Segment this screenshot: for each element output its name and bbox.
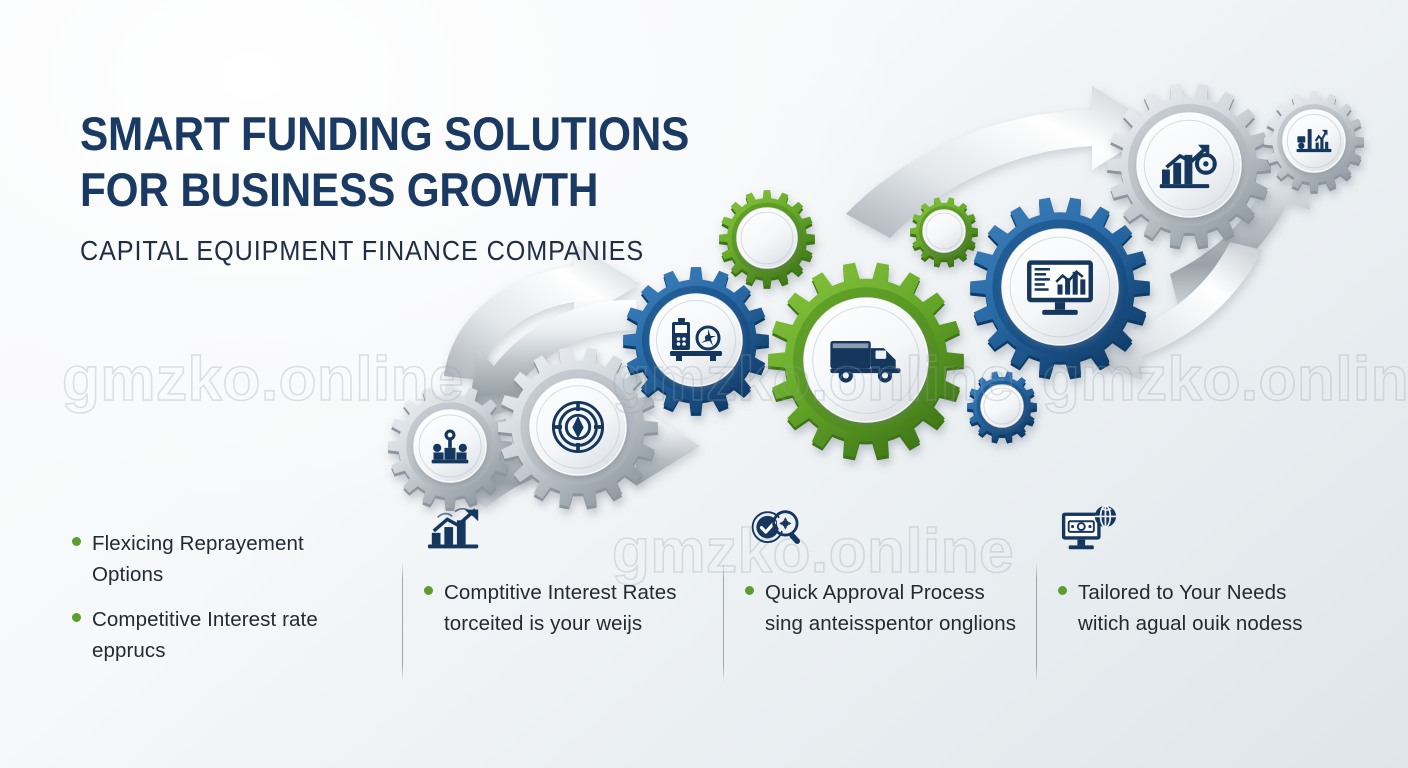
column-divider [402,562,403,682]
bullet-dot [745,586,754,595]
feature-text: Comptitive Interest Rates torceited is y… [444,577,699,639]
growth-bar-chart-arrow-icon [426,500,699,563]
list-item: Comptitive Interest Rates torceited is y… [424,577,699,639]
monitor-money-globe-icon [1060,500,1333,563]
list-item: Tailored to Your Needs witich agual ouik… [1058,577,1333,639]
list-item: Quick Approval Process sing anteisspento… [745,577,1020,639]
page-subtitle: CAPITAL EQUIPMENT FINANCE COMPANIES [80,235,644,267]
feature-flexible-repayment: Flexicing Reprayement Options Competitiv… [72,500,342,667]
bullet-dot [72,537,81,546]
gear-small-blue-low [962,366,1042,446]
bullet-dot [1058,586,1067,595]
infographic-canvas: gmzko.online gmzko.online gmzko.online g… [0,0,1408,768]
feature-tailored-needs: Tailored to Your Needs witich agual ouik… [1058,500,1333,639]
gear-truck-green [763,257,969,463]
feature-columns: Flexicing Reprayement Options Competitiv… [0,500,1408,730]
feature-text: Competitive Interest rate epprucs [92,604,342,666]
approval-check-magnifier-icon [747,500,1020,563]
title-line-2: FOR BUSINESS GROWTH [80,162,689,218]
feature-text: Quick Approval Process sing anteisspento… [765,577,1020,639]
bullet-dot [72,613,81,622]
feature-competitive-rates: Comptitive Interest Rates torceited is y… [424,500,699,639]
spacer [74,500,342,514]
gear-growth-silver [1102,78,1276,252]
title-line-1: SMART FUNDING SOLUTIONS [80,106,689,162]
gear-factory-silver [1259,86,1369,196]
feature-quick-approval: Quick Approval Process sing anteisspento… [745,500,1020,639]
feature-text: Tailored to Your Needs witich agual ouik… [1078,577,1333,639]
bullet-dot [424,586,433,595]
column-divider [1036,562,1037,682]
column-divider [723,562,724,682]
list-item: Flexicing Reprayement Options [72,528,342,590]
feature-text: Flexicing Reprayement Options [92,528,342,590]
page-title: SMART FUNDING SOLUTIONS FOR BUSINESS GRO… [80,106,689,218]
list-item: Competitive Interest rate epprucs [72,604,342,666]
